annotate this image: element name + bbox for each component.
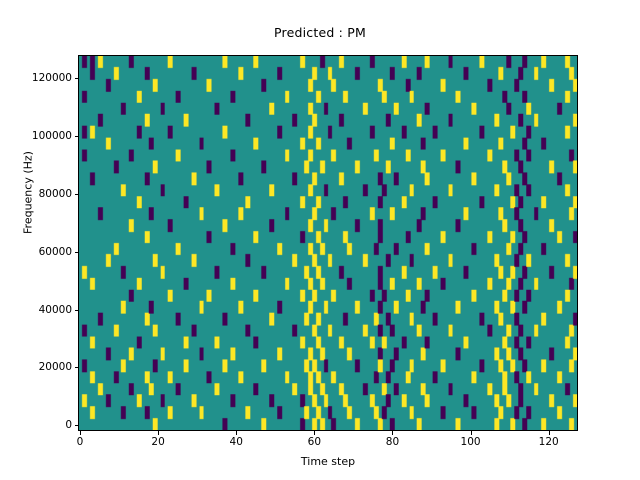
x-tick-label: 0 — [50, 437, 110, 448]
y-tick-mark — [75, 136, 79, 137]
page-title: Predicted : PM — [0, 25, 640, 40]
y-tick-label: 120000 — [4, 73, 72, 84]
x-tick-mark — [471, 431, 472, 435]
spectrogram-heatmap — [79, 56, 577, 430]
x-tick-mark — [236, 431, 237, 435]
x-tick-label: 40 — [206, 437, 266, 448]
x-tick-label: 60 — [284, 437, 344, 448]
heatmap-axes — [78, 55, 578, 431]
matplotlib-figure: Predicted : PM Frequency (Hz) Time step … — [0, 0, 640, 480]
y-tick-mark — [75, 367, 79, 368]
y-tick-label: 0 — [4, 420, 72, 431]
y-tick-label: 20000 — [4, 362, 72, 373]
x-tick-label: 120 — [519, 437, 579, 448]
x-tick-mark — [314, 431, 315, 435]
x-tick-mark — [80, 431, 81, 435]
x-axis-label: Time step — [78, 455, 578, 468]
y-tick-label: 100000 — [4, 131, 72, 142]
x-tick-mark — [549, 431, 550, 435]
y-tick-label: 60000 — [4, 246, 72, 257]
y-tick-label: 40000 — [4, 304, 72, 315]
x-tick-label: 20 — [128, 437, 188, 448]
y-tick-mark — [75, 252, 79, 253]
y-tick-mark — [75, 194, 79, 195]
y-tick-mark — [75, 78, 79, 79]
x-tick-mark — [392, 431, 393, 435]
x-tick-label: 80 — [362, 437, 422, 448]
x-tick-mark — [158, 431, 159, 435]
x-tick-label: 100 — [441, 437, 501, 448]
y-tick-mark — [75, 425, 79, 426]
y-tick-mark — [75, 310, 79, 311]
y-tick-label: 80000 — [4, 189, 72, 200]
